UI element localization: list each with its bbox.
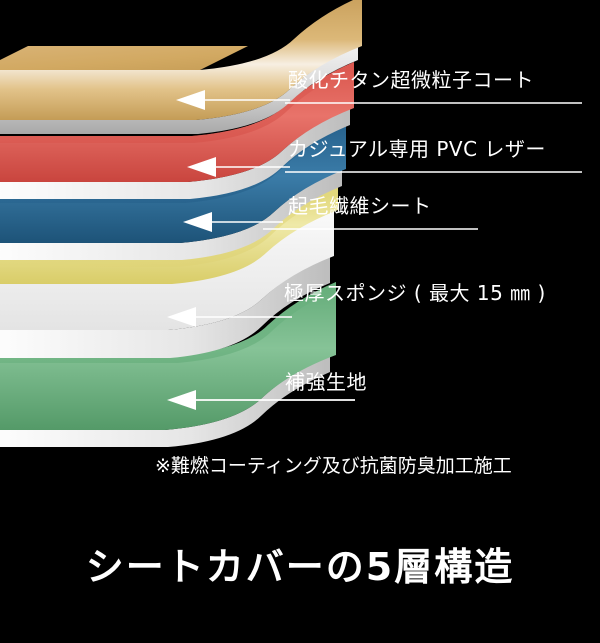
layer-label-pvc-leather: カジュアル専用 PVC レザー: [288, 139, 546, 159]
footnote: ※難燃コーティング及び抗菌防臭加工施工: [155, 457, 512, 476]
layer-label-reinforcement-fabric: 補強生地: [285, 372, 367, 392]
layer-label-raised-fiber-sheet: 起毛繊維シート: [288, 196, 432, 216]
layer-label-titanium-coat: 酸化チタン超微粒子コート: [288, 70, 534, 90]
page-title: シートカバーの5層構造: [0, 548, 600, 586]
product-diagram-page: 酸化チタン超微粒子コート カジュアル専用 PVC レザー 起毛繊維シート 極厚ス…: [0, 0, 600, 643]
layer-label-thick-sponge: 極厚スポンジ ( 最大 15 ㎜ ): [284, 283, 546, 303]
